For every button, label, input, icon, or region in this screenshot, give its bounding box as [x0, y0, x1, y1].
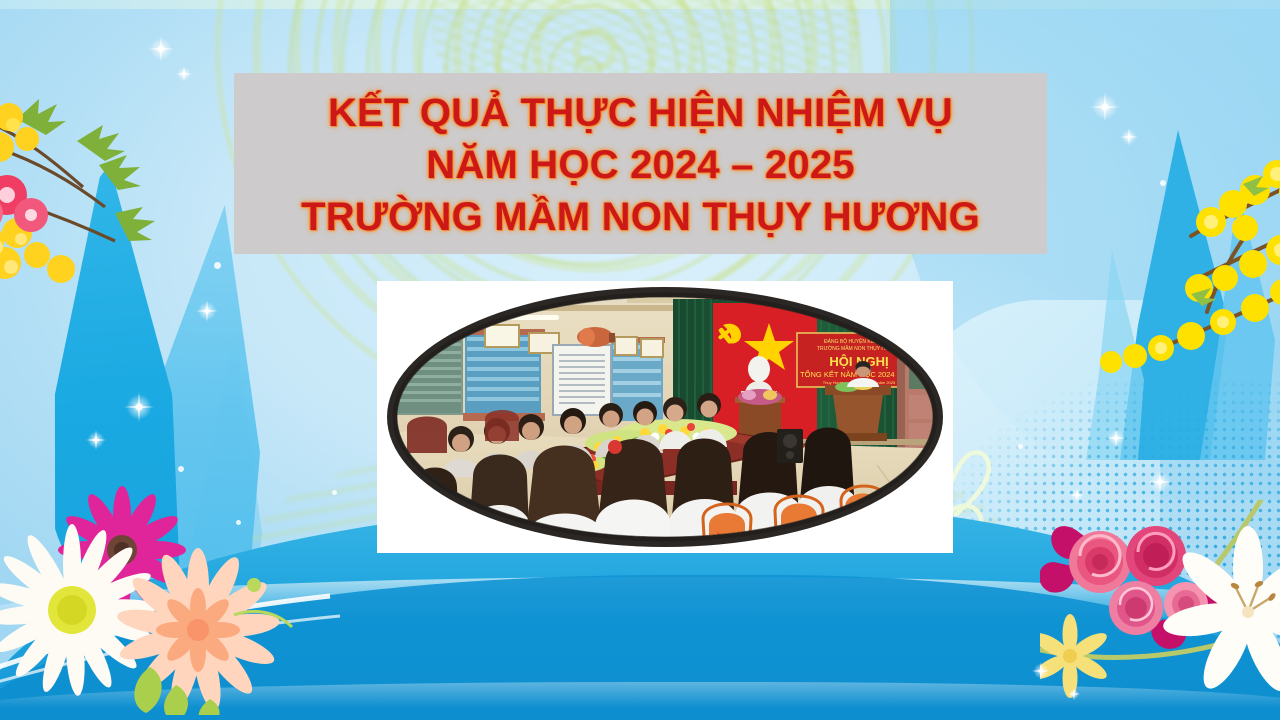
sparkle	[1032, 662, 1050, 680]
title-line-2: NĂM HỌC 2024 – 2025	[426, 139, 854, 191]
sparkle	[86, 430, 106, 450]
sparkle-dot	[1160, 180, 1166, 186]
sparkle	[124, 392, 154, 422]
sparkle-dot	[178, 466, 184, 472]
sparkle	[1068, 688, 1080, 700]
photo-frame: ĐẢNG BỘ HUYỆN KIẾN THỤY TRƯỜNG MẦM NON T…	[377, 281, 953, 553]
title-box: KẾT QUẢ THỰC HIỆN NHIỆM VỤ NĂM HỌC 2024 …	[234, 73, 1047, 254]
pink-rose-2	[1126, 526, 1186, 586]
title-line-3: TRƯỜNG MẦM NON THỤY HƯƠNG	[301, 191, 980, 243]
sparkle-dot	[332, 490, 337, 495]
sparkle-dot	[236, 520, 241, 525]
sparkle	[1148, 470, 1172, 494]
flower-branch-top-right	[1095, 140, 1280, 390]
top-mint-band	[0, 0, 1280, 9]
flower-cluster-bottom-right	[1040, 500, 1280, 720]
sparkle-dot	[1018, 444, 1023, 449]
flower-cluster-bottom-left	[0, 455, 300, 715]
sparkle	[1070, 488, 1084, 502]
sparkle	[148, 36, 174, 62]
pink-rose-3	[1109, 581, 1163, 635]
slide-canvas: KẾT QUẢ THỰC HIỆN NHIỆM VỤ NĂM HỌC 2024 …	[0, 0, 1280, 720]
sparkle	[1090, 92, 1120, 122]
flower-cluster-top-left	[0, 55, 265, 315]
pink-rose-1	[1069, 531, 1131, 593]
sparkle-dot	[214, 262, 221, 269]
sparkle	[1106, 428, 1126, 448]
meeting-photo-oval: ĐẢNG BỘ HUYỆN KIẾN THỤY TRƯỜNG MẦM NON T…	[377, 281, 953, 553]
title-line-1: KẾT QUẢ THỰC HIỆN NHIỆM VỤ	[328, 87, 953, 139]
sparkle	[176, 66, 192, 82]
sparkle	[1120, 128, 1138, 146]
sparkle	[196, 300, 218, 322]
